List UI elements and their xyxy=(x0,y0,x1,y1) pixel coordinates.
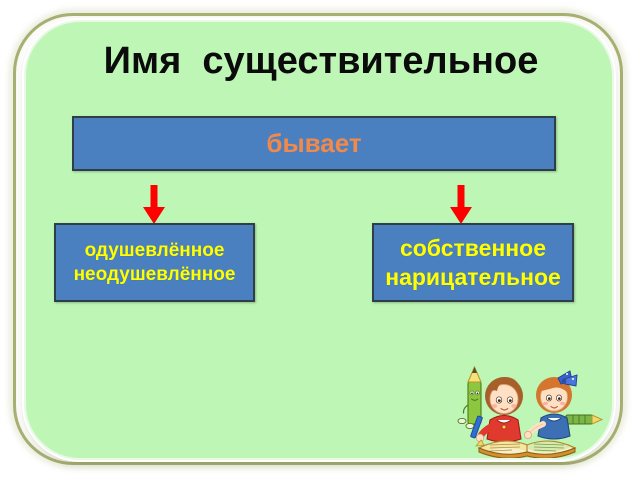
diagram-node-proper-common[interactable]: собственное нарицательное xyxy=(372,223,574,302)
arrow-down-right-icon xyxy=(448,185,474,225)
girl-figure-icon xyxy=(524,371,577,439)
arrow-down-left-icon xyxy=(141,185,167,225)
diagram-node-proper-common-line1: собственное xyxy=(385,234,561,263)
page-title: Имя существительное xyxy=(26,42,614,82)
diagram-node-animacy[interactable]: одушевлённое неодушевлённое xyxy=(54,223,255,302)
diagram-node-byvaet-label: бывает xyxy=(266,129,361,158)
diagram-node-animacy-text: одушевлённое неодушевлённое xyxy=(74,239,236,287)
diagram-node-byvaet[interactable]: бывает xyxy=(72,116,556,171)
slide-panel: Имя существительное бывает одушевлённое … xyxy=(24,20,614,460)
diagram-node-proper-common-line2: нарицательное xyxy=(385,263,561,292)
crayon-icon xyxy=(566,415,602,424)
diagram-node-animacy-line2: неодушевлённое xyxy=(74,263,236,287)
diagram-node-animacy-line1: одушевлённое xyxy=(74,239,236,263)
children-reading-book-illustration xyxy=(446,360,614,460)
slide-root: Имя существительное бывает одушевлённое … xyxy=(0,0,640,480)
diagram-node-proper-common-text: собственное нарицательное xyxy=(385,234,561,292)
open-book-icon xyxy=(479,441,575,458)
